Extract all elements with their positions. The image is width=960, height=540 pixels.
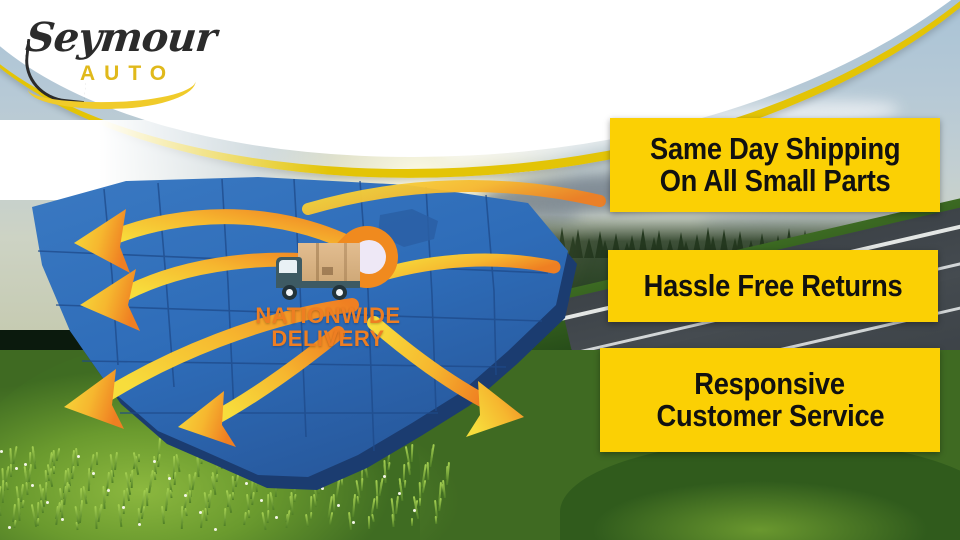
truck-window [279, 260, 297, 273]
nationwide-line-1: NATIONWIDE [253, 305, 403, 328]
flower [199, 511, 202, 514]
flower [260, 499, 263, 502]
flower [337, 504, 340, 507]
flower [0, 450, 3, 453]
brand-logo[interactable]: Seymour AUTO [18, 14, 218, 100]
callout-hassle-free-returns[interactable]: Hassle Free Returns [608, 250, 938, 322]
grass-blade [376, 496, 378, 509]
promotional-banner: Seymour AUTO [0, 0, 960, 540]
logo-name: Seymour [24, 14, 219, 61]
callout-same-day-shipping[interactable]: Same Day Shipping On All Small Parts [610, 118, 940, 212]
flower [122, 506, 125, 509]
flower [138, 523, 141, 526]
flower [214, 528, 217, 531]
grass-blade [419, 498, 421, 506]
callout-line: Hassle Free Returns [644, 270, 903, 302]
nationwide-line-2: DELIVERY [253, 328, 403, 351]
grass-blade [368, 516, 370, 529]
nationwide-delivery-heading: NATIONWIDE DELIVERY [253, 305, 403, 351]
callout-line: Responsive [695, 368, 845, 400]
truck-wheel [282, 285, 297, 300]
flower [46, 501, 49, 504]
callout-line: Customer Service [656, 400, 884, 432]
grass-blade [411, 518, 413, 526]
truck-wheel [332, 285, 347, 300]
logo-subtitle: AUTO [80, 62, 175, 86]
flower [352, 521, 355, 524]
callout-line: On All Small Parts [660, 165, 891, 197]
callout-line: Same Day Shipping [650, 133, 900, 165]
flower [413, 509, 416, 512]
delivery-truck-icon [270, 243, 360, 303]
grass-blade [2, 480, 4, 503]
callout-responsive-customer-service[interactable]: Responsive Customer Service [600, 348, 940, 452]
truck-cargo-box [298, 243, 360, 283]
grass-blade [181, 506, 183, 529]
flower [61, 518, 64, 521]
flower [8, 526, 11, 529]
flower [275, 516, 278, 519]
